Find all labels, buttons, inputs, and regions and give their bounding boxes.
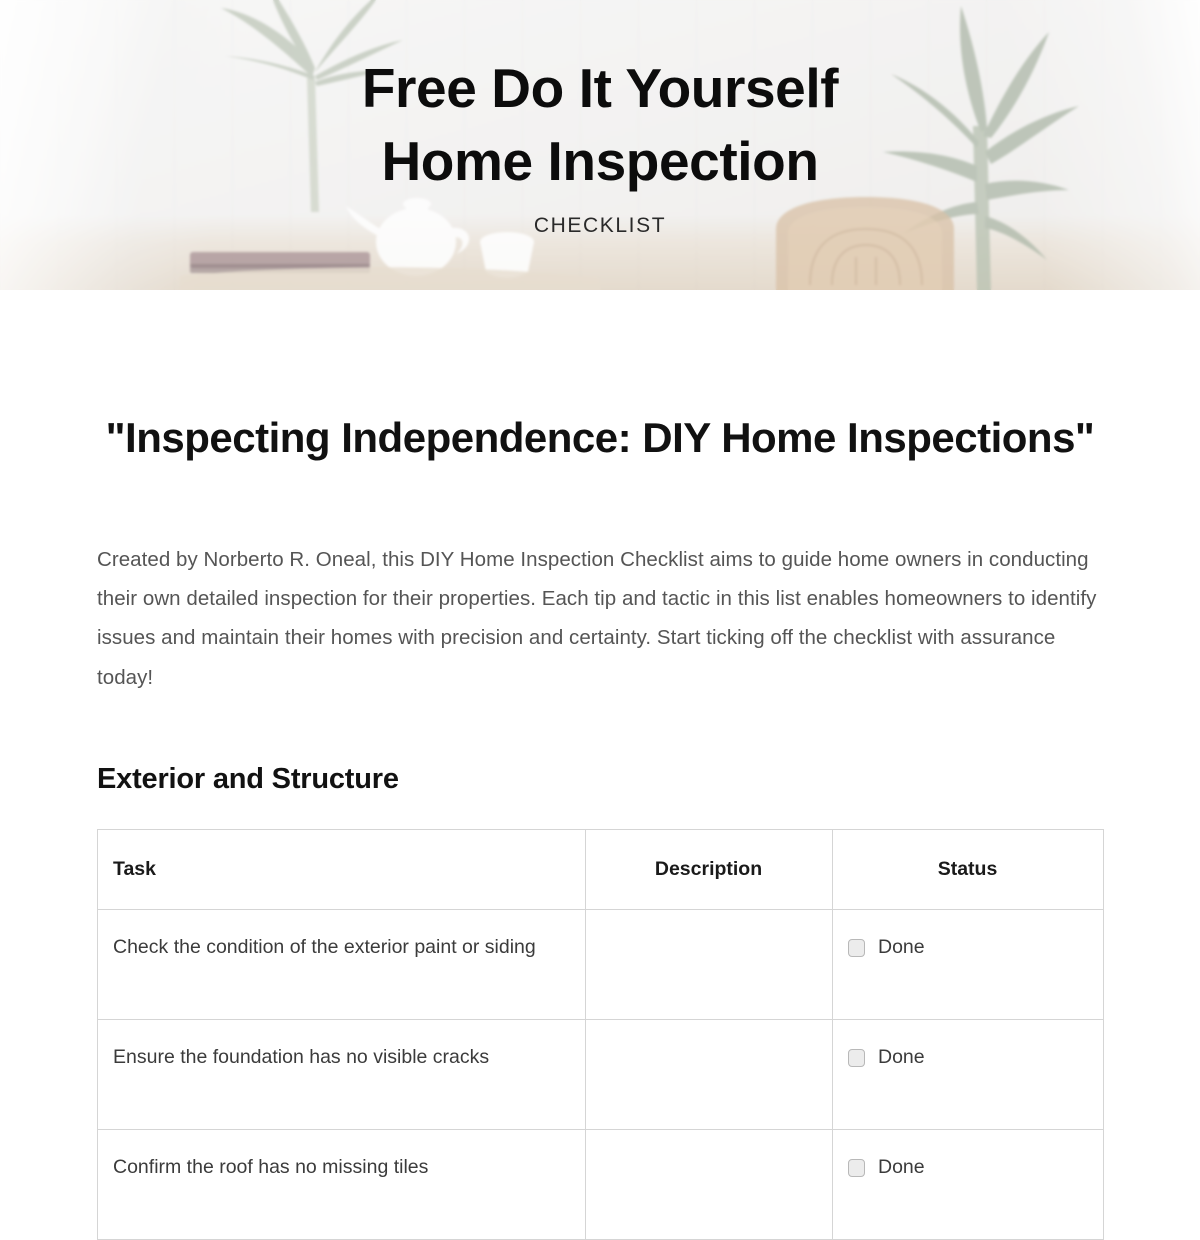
cell-task: Ensure the foundation has no visible cra… <box>98 1020 586 1130</box>
status-group: Done <box>848 1152 1087 1184</box>
cell-description <box>586 910 833 1020</box>
section-heading-exterior-and-structure: Exterior and Structure <box>97 697 1103 829</box>
cell-status: Done <box>833 910 1104 1020</box>
page-title: "Inspecting Independence: DIY Home Inspe… <box>97 290 1103 468</box>
cell-status: Done <box>833 1020 1104 1130</box>
status-group: Done <box>848 1042 1087 1074</box>
done-checkbox[interactable] <box>848 939 865 957</box>
banner-subtitle: CHECKLIST <box>534 214 666 238</box>
banner-text-block: Free Do It Yourself Home Inspection CHEC… <box>0 0 1200 290</box>
cell-description <box>586 1020 833 1130</box>
table-row: Ensure the foundation has no visible cra… <box>98 1020 1104 1130</box>
done-checkbox[interactable] <box>848 1049 865 1067</box>
page-banner: Free Do It Yourself Home Inspection CHEC… <box>0 0 1200 290</box>
table-row: Check the condition of the exterior pain… <box>98 910 1104 1020</box>
column-header-description: Description <box>586 829 833 910</box>
table-header-row: Task Description Status <box>98 829 1104 910</box>
column-header-task: Task <box>98 829 586 910</box>
done-label: Done <box>878 1042 925 1074</box>
banner-title: Free Do It Yourself Home Inspection <box>362 52 838 198</box>
table-header: Task Description Status <box>98 829 1104 910</box>
table-row: Confirm the roof has no missing tiles Do… <box>98 1130 1104 1240</box>
cell-task: Confirm the roof has no missing tiles <box>98 1130 586 1240</box>
cell-task: Check the condition of the exterior pain… <box>98 910 586 1020</box>
done-checkbox[interactable] <box>848 1159 865 1177</box>
cell-description <box>586 1130 833 1240</box>
checklist-table: Task Description Status Check the condit… <box>97 829 1104 1240</box>
cell-status: Done <box>833 1130 1104 1240</box>
intro-paragraph: Created by Norberto R. Oneal, this DIY H… <box>97 468 1103 697</box>
column-header-status: Status <box>833 829 1104 910</box>
banner-title-line-2: Home Inspection <box>362 125 838 198</box>
document-body: "Inspecting Independence: DIY Home Inspe… <box>0 290 1200 1240</box>
done-label: Done <box>878 1152 925 1184</box>
banner-title-line-1: Free Do It Yourself <box>362 52 838 125</box>
table-body: Check the condition of the exterior pain… <box>98 910 1104 1240</box>
status-group: Done <box>848 932 1087 964</box>
done-label: Done <box>878 932 925 964</box>
